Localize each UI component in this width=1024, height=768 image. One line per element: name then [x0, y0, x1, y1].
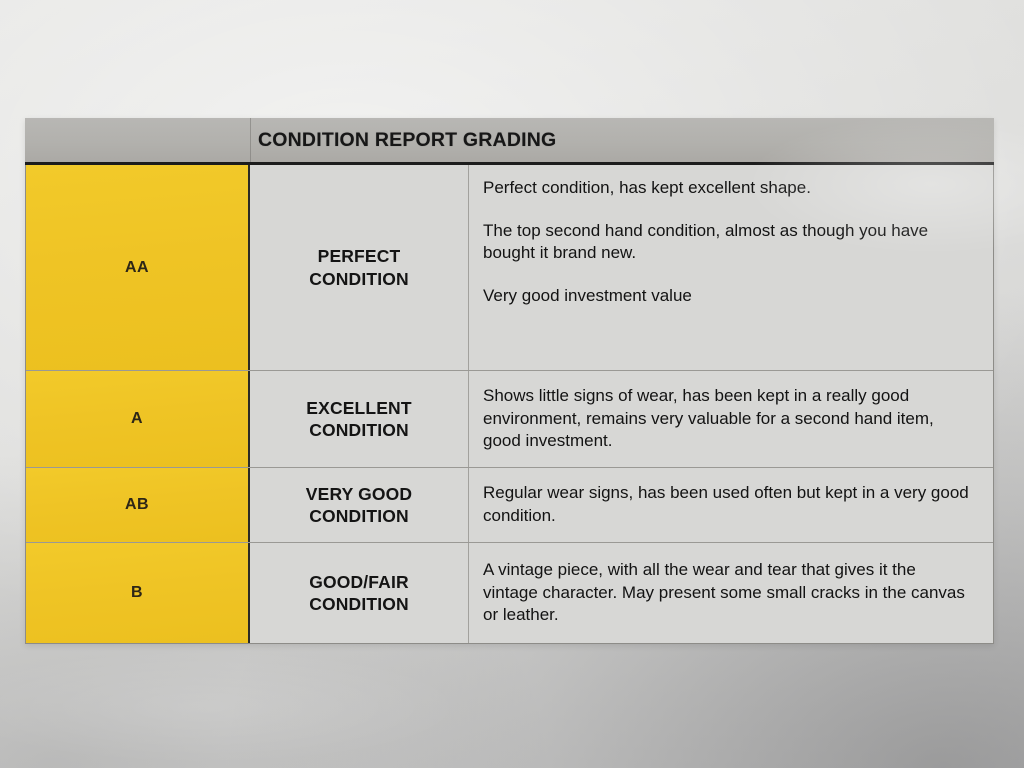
- description-cell-b: A vintage piece, with all the wear and t…: [469, 543, 993, 643]
- description-paragraph: Shows little signs of wear, has been kep…: [483, 385, 971, 453]
- condition-label-line-2: CONDITION: [309, 269, 409, 289]
- condition-label-line-1: PERFECT: [318, 246, 401, 266]
- description-paragraph: A vintage piece, with all the wear and t…: [483, 559, 971, 627]
- description-cell-ab: Regular wear signs, has been used often …: [469, 468, 993, 542]
- table-body: AA PERFECT CONDITION Perfect condition, …: [25, 165, 994, 644]
- description-cell-a: Shows little signs of wear, has been kep…: [469, 371, 993, 467]
- description-paragraph: The top second hand condition, almost as…: [483, 220, 971, 265]
- condition-label-cell-b: GOOD/FAIR CONDITION: [250, 543, 469, 643]
- condition-label-line-1: EXCELLENT: [306, 398, 411, 418]
- table-row: AA PERFECT CONDITION Perfect condition, …: [26, 165, 993, 371]
- condition-report-grading-table: CONDITION REPORT GRADING AA PERFECT COND…: [25, 118, 994, 644]
- grade-code-cell-ab: AB: [26, 468, 250, 542]
- table-row: B GOOD/FAIR CONDITION A vintage piece, w…: [26, 543, 993, 643]
- condition-label-line-1: GOOD/FAIR: [309, 572, 409, 592]
- condition-label-cell-a: EXCELLENT CONDITION: [250, 371, 469, 467]
- grade-code-cell-aa: AA: [26, 165, 250, 370]
- page-title: CONDITION REPORT GRADING: [258, 129, 556, 152]
- condition-label-line-2: CONDITION: [309, 420, 409, 440]
- condition-label-line-2: CONDITION: [309, 594, 409, 614]
- description-paragraph: Very good investment value: [483, 285, 971, 308]
- header-column-divider: [250, 118, 251, 162]
- description-paragraph: Regular wear signs, has been used often …: [483, 482, 971, 527]
- condition-label-cell-ab: VERY GOOD CONDITION: [250, 468, 469, 542]
- table-header-band: CONDITION REPORT GRADING: [25, 118, 994, 165]
- description-cell-aa: Perfect condition, has kept excellent sh…: [469, 165, 993, 370]
- condition-label-line-1: VERY GOOD: [306, 484, 412, 504]
- description-paragraph: Perfect condition, has kept excellent sh…: [483, 177, 971, 200]
- condition-label-line-2: CONDITION: [309, 506, 409, 526]
- grade-code-label: AB: [125, 496, 149, 514]
- grade-code-cell-a: A: [26, 371, 250, 467]
- grade-code-cell-b: B: [26, 543, 250, 643]
- condition-label-cell-aa: PERFECT CONDITION: [250, 165, 469, 370]
- table-row: AB VERY GOOD CONDITION Regular wear sign…: [26, 468, 993, 543]
- grade-code-label: B: [131, 584, 143, 602]
- table-row: A EXCELLENT CONDITION Shows little signs…: [26, 371, 993, 468]
- grade-code-label: AA: [125, 259, 149, 277]
- grade-code-label: A: [131, 410, 143, 428]
